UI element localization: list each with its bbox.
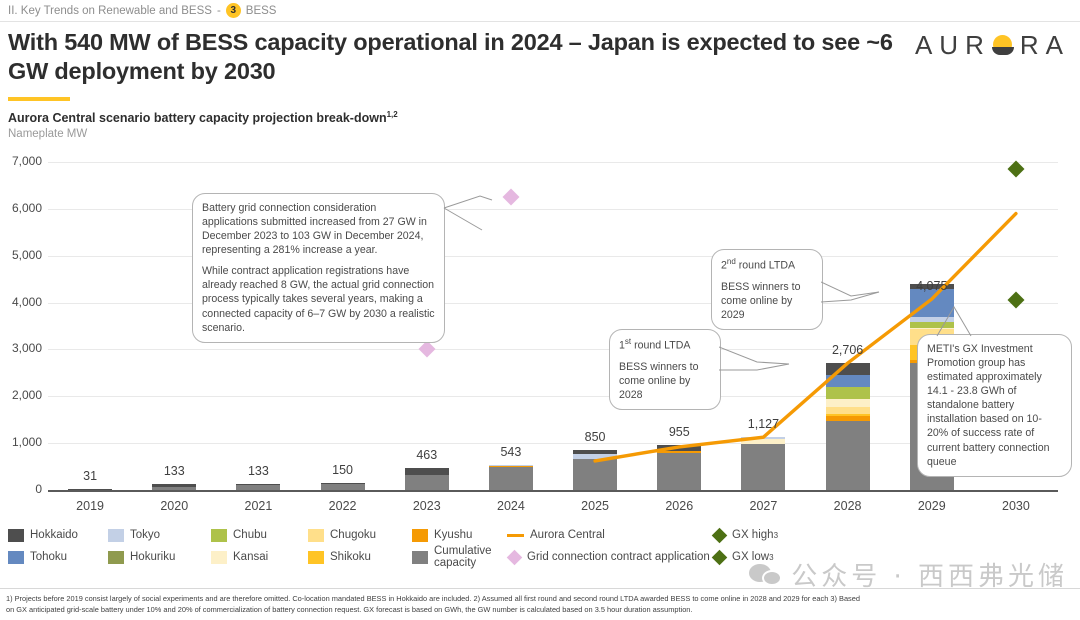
bar-value-label: 31	[45, 469, 135, 483]
legend-label: Kansai	[233, 551, 268, 563]
callout-grid-connection: Battery grid connection consideration ap…	[192, 193, 445, 343]
chart-title: Aurora Central scenario battery capacity…	[8, 110, 398, 125]
line-swatch-icon	[507, 534, 524, 537]
square-swatch-icon	[108, 551, 124, 564]
square-swatch-icon	[211, 529, 227, 542]
legend-label: Aurora Central	[530, 529, 605, 541]
callout-second-round-ltda: 2nd round LTDA BESS winners to come onli…	[711, 249, 823, 330]
footnotes: 1) Projects before 2019 consist largely …	[6, 594, 1072, 615]
x-axis-tick-label: 2027	[718, 499, 808, 513]
bar-value-label: 463	[382, 448, 472, 462]
x-axis-tick-label: 2020	[129, 499, 219, 513]
callout-first-round-ltda: 1st round LTDA BESS winners to come onli…	[609, 329, 721, 410]
square-swatch-icon	[308, 551, 324, 564]
footnote-line-2: on GX anticipated grid-scale battery und…	[6, 605, 1072, 616]
square-swatch-icon	[8, 551, 24, 564]
square-swatch-icon	[412, 551, 428, 564]
legend-label: GX high	[732, 529, 774, 541]
x-axis-tick-label: 2021	[213, 499, 303, 513]
callout-ltda1-line1: 1st round LTDA	[619, 337, 711, 353]
x-axis-tick-label: 2029	[887, 499, 977, 513]
breadcrumb-separator: -	[217, 5, 221, 17]
breadcrumb-section[interactable]: II. Key Trends on Renewable and BESS	[8, 5, 212, 17]
callout-ltda1-leader-line	[719, 344, 794, 384]
breadcrumb: II. Key Trends on Renewable and BESS - 3…	[0, 0, 1080, 22]
x-axis-tick-label: 2025	[550, 499, 640, 513]
legend-item-tokyo[interactable]: Tokyo	[108, 529, 211, 542]
legend-footnote-ref: 3	[774, 531, 778, 540]
legend-item-chugoku[interactable]: Chugoku	[308, 529, 412, 542]
square-swatch-icon	[8, 529, 24, 542]
logo-text-right: RA	[1020, 30, 1070, 61]
bar-value-label: 850	[550, 430, 640, 444]
callout-ltda2-leader-line	[821, 278, 883, 310]
bar-value-label: 955	[634, 425, 724, 439]
legend-row-1: HokkaidoTokyoChubuChugokuKyushuAurora Ce…	[8, 524, 938, 546]
legend-item-hokkaido[interactable]: Hokkaido	[8, 529, 108, 542]
callout-ltda2-line2: BESS winners to	[721, 280, 813, 294]
legend-item-tohoku[interactable]: Tohoku	[8, 551, 108, 564]
legend-item-kyushu[interactable]: Kyushu	[412, 529, 507, 542]
aurora-logo: AUR RA	[915, 30, 1070, 61]
bar-value-label: 1,127	[718, 417, 808, 431]
callout-grid-leader-line	[440, 192, 500, 237]
x-axis-tick-label: 2026	[634, 499, 724, 513]
diamond-swatch-icon	[712, 549, 728, 565]
legend-item-chubu[interactable]: Chubu	[211, 529, 308, 542]
legend-label: Grid connection contract application	[527, 551, 710, 563]
x-axis-tick-label: 2019	[45, 499, 135, 513]
wechat-icon	[749, 562, 785, 588]
legend-label: Chubu	[233, 529, 267, 541]
callout-ltda2-line4: 2029	[721, 308, 813, 322]
legend-label: Tohoku	[30, 551, 67, 563]
page-title: With 540 MW of BESS capacity operational…	[8, 28, 918, 85]
callout-meti-leader-line	[935, 305, 975, 337]
legend-item-kansai[interactable]: Kansai	[211, 551, 308, 564]
chart-title-footnote-ref: 1,2	[387, 110, 398, 119]
breadcrumb-number-badge: 3	[226, 3, 241, 18]
legend-label: Hokuriku	[130, 551, 175, 563]
x-axis-tick-label: 2022	[298, 499, 388, 513]
diamond-swatch-icon	[712, 527, 728, 543]
callout-ltda2-line3: come online by	[721, 294, 813, 308]
legend-item-grid-connection-contract-application[interactable]: Grid connection contract application	[507, 551, 712, 563]
logo-text-left: AUR	[915, 30, 991, 61]
square-swatch-icon	[108, 529, 124, 542]
callout-ltda1-line2: BESS winners to	[619, 360, 711, 374]
legend-label: Tokyo	[130, 529, 160, 541]
chart-title-text: Aurora Central scenario battery capacity…	[8, 111, 387, 125]
legend-label: Kyushu	[434, 529, 472, 541]
bar-value-label: 133	[129, 464, 219, 478]
legend-item-cumulative-capacity[interactable]: Cumulative capacity	[412, 545, 507, 569]
callout-ltda1-line4: 2028	[619, 388, 711, 402]
diamond-swatch-icon	[507, 549, 523, 565]
breadcrumb-label[interactable]: BESS	[246, 5, 277, 17]
footnote-line-1: 1) Projects before 2019 consist largely …	[6, 594, 1072, 605]
footnote-divider	[0, 588, 1080, 589]
legend-item-shikoku[interactable]: Shikoku	[308, 551, 412, 564]
bar-value-label: 4,075	[887, 279, 977, 293]
callout-ltda2-line1: 2nd round LTDA	[721, 257, 813, 273]
legend-label: Hokkaido	[30, 529, 78, 541]
bar-value-label: 150	[298, 463, 388, 477]
callout-meti-gx: METI's GX Investment Promotion group has…	[917, 334, 1072, 477]
x-axis-tick-label: 2030	[971, 499, 1061, 513]
legend-label: Chugoku	[330, 529, 376, 541]
callout-meti-text: METI's GX Investment Promotion group has…	[927, 342, 1062, 469]
legend-item-hokuriku[interactable]: Hokuriku	[108, 551, 211, 564]
bar-value-label: 2,706	[803, 343, 893, 357]
legend-label: Shikoku	[330, 551, 371, 563]
chart-subtitle: Nameplate MW	[8, 128, 87, 140]
x-axis-tick-label: 2028	[803, 499, 893, 513]
sun-icon	[992, 35, 1014, 57]
legend-item-gx-high[interactable]: GX high3	[712, 529, 832, 541]
square-swatch-icon	[412, 529, 428, 542]
square-swatch-icon	[211, 551, 227, 564]
callout-grid-p2: While contract application registrations…	[202, 264, 435, 334]
callout-grid-p1: Battery grid connection consideration ap…	[202, 201, 435, 257]
legend-label: Cumulative capacity	[434, 545, 507, 569]
x-axis-tick-label: 2024	[466, 499, 556, 513]
title-underline-rule	[8, 97, 70, 101]
square-swatch-icon	[308, 529, 324, 542]
x-axis-tick-label: 2023	[382, 499, 472, 513]
bar-value-label: 133	[213, 464, 303, 478]
callout-ltda1-line3: come online by	[619, 374, 711, 388]
legend-item-aurora-central[interactable]: Aurora Central	[507, 529, 712, 541]
bar-value-label: 543	[466, 445, 556, 459]
